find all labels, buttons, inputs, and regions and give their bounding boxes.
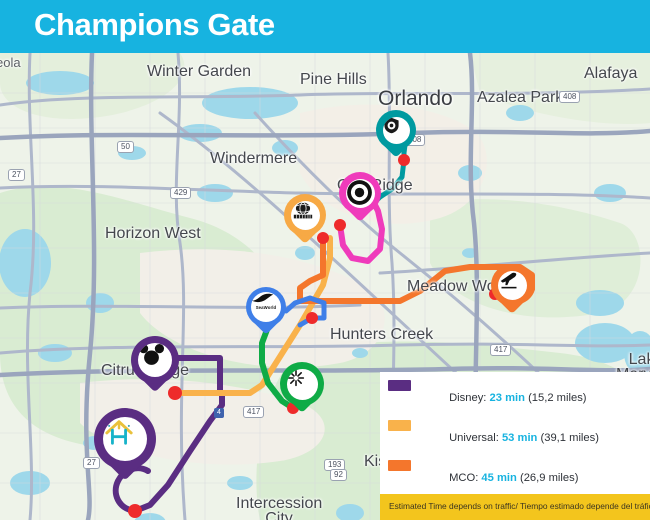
globe-icon: [291, 201, 315, 220]
page-title: Champions Gate: [34, 7, 275, 43]
page-header: Champions Gate: [0, 0, 650, 53]
marker-disney[interactable]: [131, 336, 179, 398]
marker-hospital[interactable]: [376, 110, 416, 162]
legend-label-universal: Universal: 53 min (39,1 miles): [418, 419, 599, 458]
seaworld-wordmark: SeaWorld: [256, 305, 277, 310]
shield-sr-417: 417: [243, 406, 264, 418]
shield-sr-50: 50: [117, 141, 134, 153]
shield-sr-408-east: 408: [559, 91, 580, 103]
route-endpoint: [306, 312, 318, 324]
shield-i-4: 4: [214, 408, 224, 418]
seaworld-icon: [251, 292, 274, 304]
legend-item-disney: Disney: 23 min (15,2 miles): [388, 379, 650, 418]
route-endpoint: [128, 504, 142, 518]
marker-universal[interactable]: [284, 194, 326, 249]
legend-panel: Disney: 23 min (15,2 miles) Universal: 5…: [380, 372, 650, 490]
legend-item-mco: MCO: 45 min (26,9 miles): [388, 459, 650, 498]
marker-home[interactable]: [94, 408, 156, 488]
shield-us-92: 92: [330, 469, 347, 481]
marker-target[interactable]: [339, 172, 381, 227]
infographic-root: Champions Gate: [0, 0, 650, 520]
spark-icon: [287, 369, 305, 387]
house-icon: [103, 417, 135, 447]
legend-label-disney: Disney: 23 min (15,2 miles): [418, 379, 587, 418]
legend-label-mco: MCO: 45 min (26,9 miles): [418, 459, 578, 498]
marker-mco[interactable]: [491, 264, 533, 319]
footer-disclaimer-text: Estimated Time depends on traffic/ Tiemp…: [389, 501, 650, 511]
legend-item-universal: Universal: 53 min (39,1 miles): [388, 419, 650, 458]
airplane-icon: [498, 271, 520, 291]
shield-sr-429: 429: [170, 187, 191, 199]
legend-swatch-mco: [388, 460, 411, 471]
shield-us-27: 27: [8, 169, 25, 181]
shield-sr-417-east: 417: [490, 344, 511, 356]
footer-disclaimer-bar: Estimated Time depends on traffic/ Tiemp…: [380, 494, 650, 520]
legend-swatch-disney: [388, 380, 411, 391]
shield-target-icon: [383, 117, 400, 134]
mickey-icon: [138, 343, 165, 366]
legend-swatch-universal: [388, 420, 411, 431]
marker-walmart[interactable]: [280, 362, 324, 419]
marker-seaworld[interactable]: SeaWorld: [246, 287, 286, 339]
bullseye-icon: [346, 179, 373, 206]
